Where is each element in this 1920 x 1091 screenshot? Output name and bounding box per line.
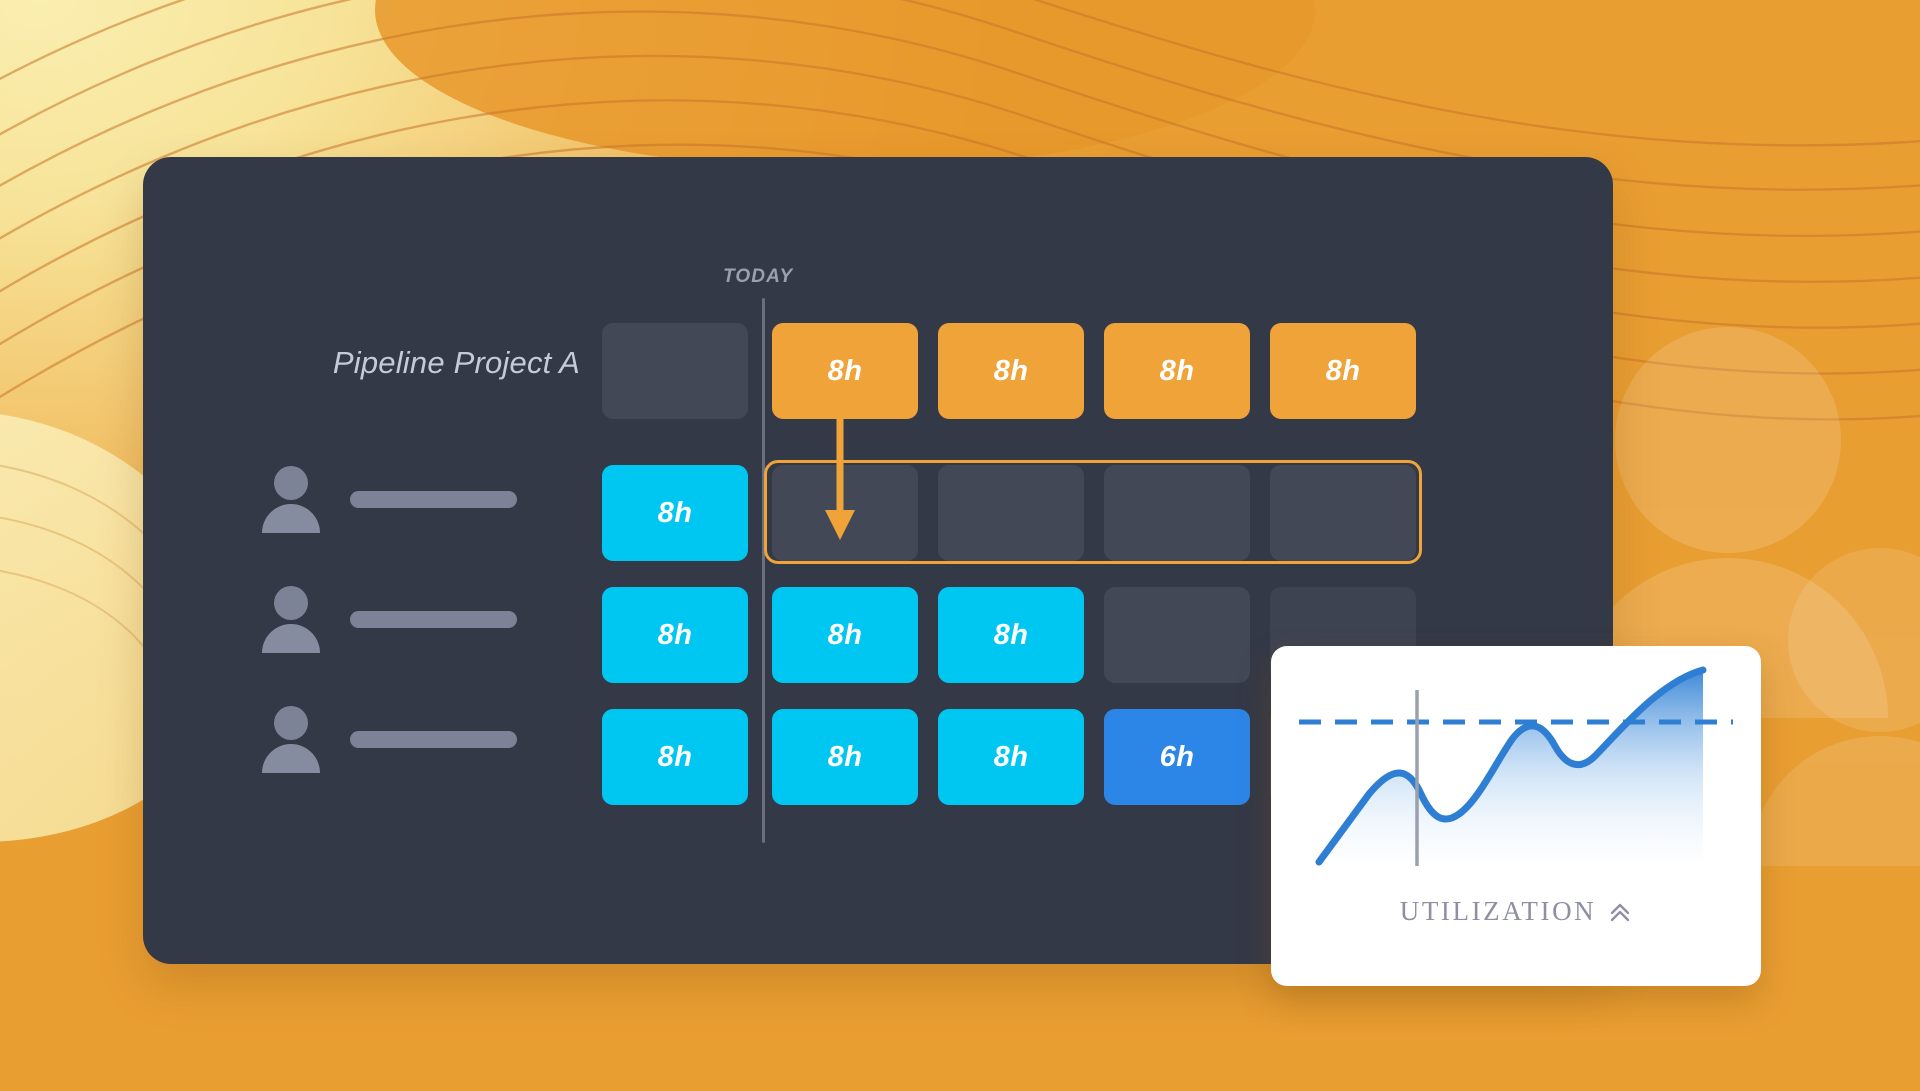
project-cell-2[interactable]: 8h xyxy=(938,323,1084,419)
today-line xyxy=(762,298,765,843)
resource-2-cell-0[interactable]: 8h xyxy=(602,587,748,683)
resource-1-cell-2[interactable] xyxy=(938,465,1084,561)
utilization-area-chart xyxy=(1299,664,1733,882)
resource-2-cell-2[interactable]: 8h xyxy=(938,587,1084,683)
screenshot-root: Pipeline Project A TODAY 8h 8h 8h 8h xyxy=(0,0,1920,1091)
person-icon-head xyxy=(274,706,308,740)
resource-row-1[interactable] xyxy=(262,451,582,547)
project-title: Pipeline Project A xyxy=(250,345,580,381)
resource-1-cell-0[interactable]: 8h xyxy=(602,465,748,561)
person-icon-body xyxy=(262,624,320,653)
utilization-label-row[interactable]: UTILIZATION xyxy=(1271,896,1761,927)
resource-3-cell-3[interactable]: 6h xyxy=(1104,709,1250,805)
person-icon xyxy=(262,464,320,534)
arrow-down-icon xyxy=(820,404,860,544)
today-label: TODAY xyxy=(723,266,793,288)
person-icon-head xyxy=(274,586,308,620)
person-icon xyxy=(262,704,320,774)
person-icon xyxy=(262,584,320,654)
person-icon-head xyxy=(274,466,308,500)
resource-2-cell-1[interactable]: 8h xyxy=(772,587,918,683)
project-cell-3[interactable]: 8h xyxy=(1104,323,1250,419)
project-cell-4[interactable]: 8h xyxy=(1270,323,1416,419)
resource-3-cell-1[interactable]: 8h xyxy=(772,709,918,805)
resource-row-2[interactable] xyxy=(262,571,582,667)
resource-name-placeholder xyxy=(350,491,517,508)
utilization-area-fill xyxy=(1319,670,1703,862)
utilization-label: UTILIZATION xyxy=(1400,896,1597,927)
person-icon-body xyxy=(262,744,320,773)
double-chevron-up-icon[interactable] xyxy=(1608,900,1632,924)
resource-row-3[interactable] xyxy=(262,691,582,787)
person-icon-body xyxy=(262,504,320,533)
resource-2-cell-3[interactable] xyxy=(1104,587,1250,683)
resource-3-cell-0[interactable]: 8h xyxy=(602,709,748,805)
resource-1-cell-3[interactable] xyxy=(1104,465,1250,561)
resource-name-placeholder xyxy=(350,731,517,748)
project-cell-0[interactable] xyxy=(602,323,748,419)
resource-3-cell-2[interactable]: 8h xyxy=(938,709,1084,805)
utilization-card[interactable]: UTILIZATION xyxy=(1271,646,1761,986)
background-blob-top xyxy=(375,0,1315,170)
resource-1-cell-4[interactable] xyxy=(1270,465,1416,561)
resource-name-placeholder xyxy=(350,611,517,628)
